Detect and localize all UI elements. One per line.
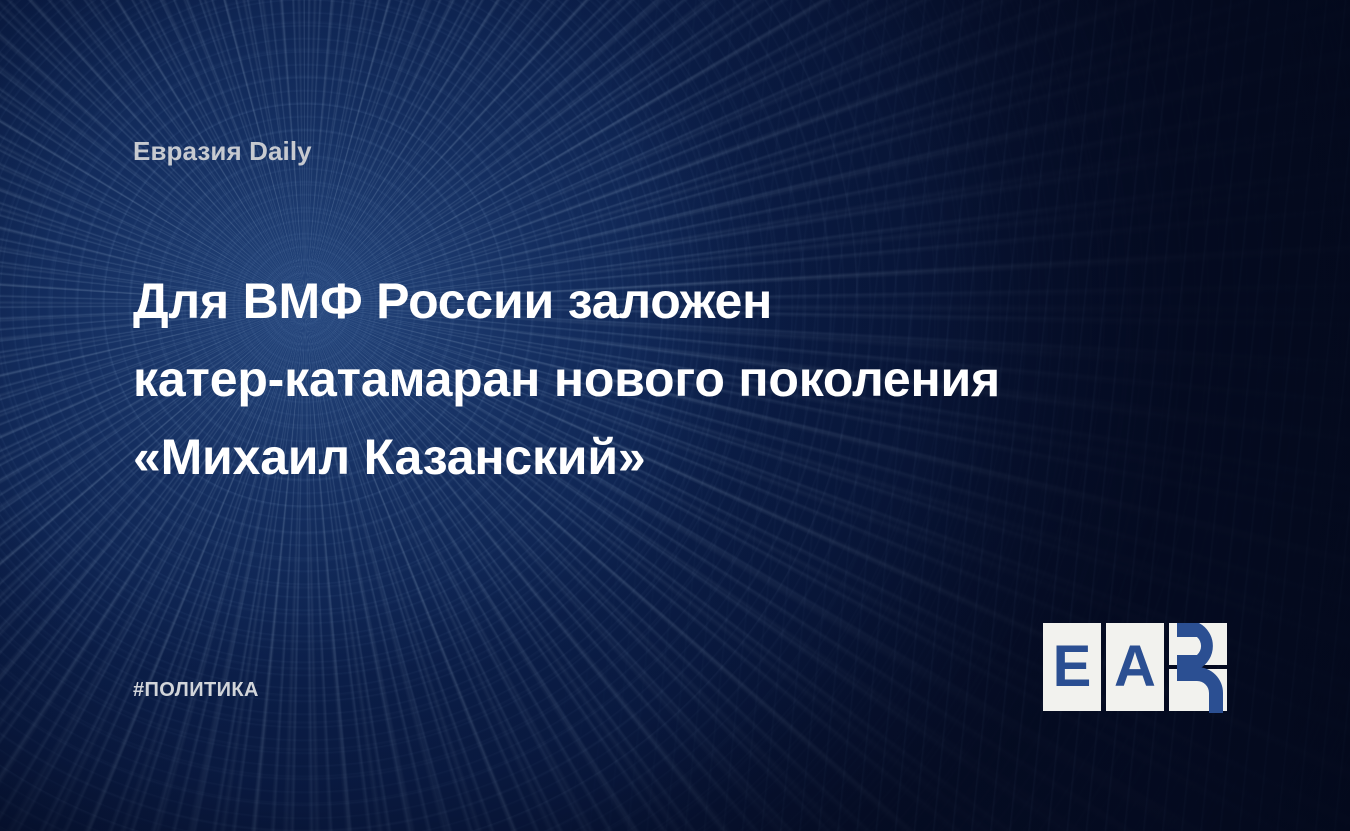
logo-letter-e: E (1043, 623, 1101, 711)
category-tag[interactable]: #ПОЛИТИКА (133, 679, 259, 702)
brand-wordmark[interactable]: Евразия Daily (133, 136, 312, 167)
headline-line-1: Для ВМФ России заложен (133, 262, 1133, 340)
news-cover-card: Евразия Daily Для ВМФ России заложен кат… (0, 0, 1350, 831)
headline-line-2: катер-катамаран нового поколения (133, 340, 1133, 418)
logo-tile-e: E (1043, 623, 1101, 711)
logo-d-bottom-shape (1163, 663, 1235, 719)
headline: Для ВМФ России заложен катер-катамаран н… (133, 262, 1133, 496)
logo-tile-d-bottom (1169, 669, 1227, 711)
logo-tile-d-top (1169, 623, 1227, 665)
headline-line-3: «Михаил Казанский» (133, 418, 1133, 496)
card-content: Евразия Daily Для ВМФ России заложен кат… (0, 0, 1350, 831)
logo-letter-a: A (1106, 623, 1164, 711)
ead-logo[interactable]: E A (1043, 623, 1227, 711)
logo-tile-d (1169, 623, 1227, 711)
logo-tile-a: A (1106, 623, 1164, 711)
